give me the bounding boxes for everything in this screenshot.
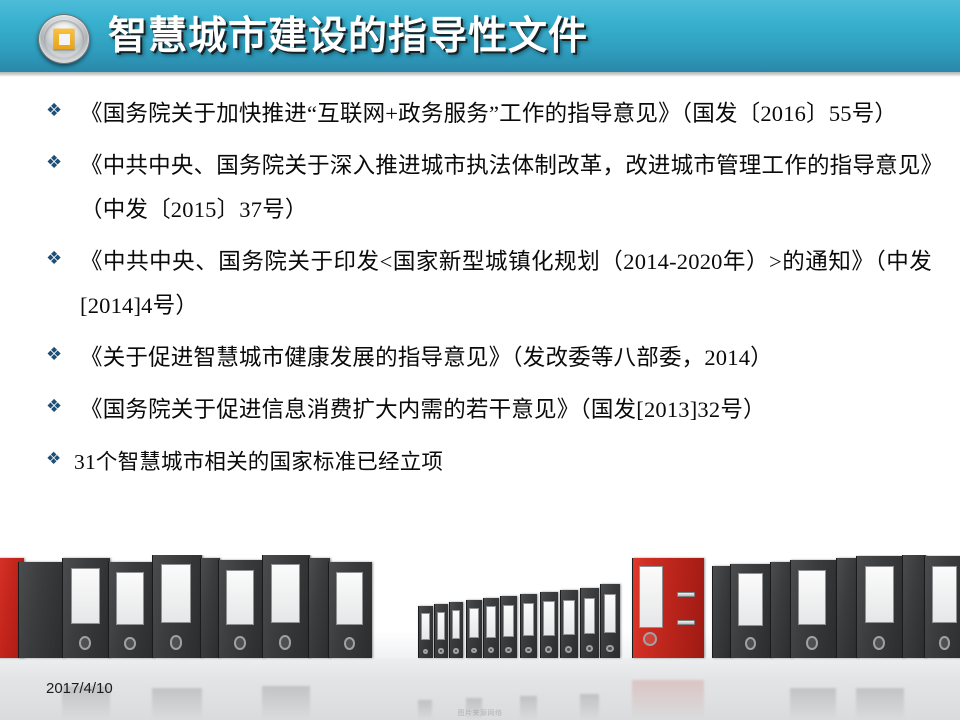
binder [770, 562, 792, 658]
binder [62, 558, 110, 658]
binder [434, 604, 448, 658]
list-item: ❖ 《国务院关于加快推进“互联网+政务服务”工作的指导意见》（国发〔2016〕5… [0, 92, 960, 136]
binder [152, 555, 202, 658]
binder [836, 558, 858, 658]
diamond-bullet-icon: ❖ [46, 388, 80, 425]
binder [580, 588, 599, 658]
diamond-bullet-icon: ❖ [46, 336, 80, 373]
binder [790, 560, 836, 658]
diamond-bullet-icon: ❖ [46, 240, 80, 277]
slide-title: 智慧城市建设的指导性文件 [108, 8, 588, 66]
square-badge-icon [38, 14, 90, 64]
binder [540, 592, 558, 658]
binder [483, 598, 499, 658]
list-item: ❖ 《中共中央、国务院关于深入推进城市执法体制改革，改进城市管理工作的指导意见》… [0, 144, 960, 232]
list-item-text: 《国务院关于加快推进“互联网+政务服务”工作的指导意见》（国发〔2016〕55号… [80, 92, 932, 136]
row-of-binders-photo: 2017/4/10 图片来源网络 [0, 555, 960, 720]
binder [924, 556, 960, 658]
binder [200, 558, 220, 658]
binder [466, 600, 482, 658]
list-item: ❖ 《中共中央、国务院关于印发<国家新型城镇化规划（2014-2020年）>的通… [0, 240, 960, 328]
binder [600, 584, 620, 658]
binder [560, 590, 578, 658]
slide-header: 智慧城市建设的指导性文件 [0, 0, 960, 73]
list-item-text: 《关于促进智慧城市健康发展的指导意见》（发改委等八部委，2014） [80, 336, 932, 380]
binder-red-highlighted [632, 558, 704, 658]
diamond-bullet-icon: ❖ [46, 92, 80, 129]
diamond-bullet-icon: ❖ [46, 440, 74, 477]
list-item: ❖ 31个智慧城市相关的国家标准已经立项 [0, 440, 960, 484]
footer-watermark: 图片来源网络 [0, 708, 960, 718]
list-item: ❖ 《国务院关于促进信息消费扩大内需的若干意见》（国发[2013]32号） [0, 388, 960, 432]
list-item-text: 《国务院关于促进信息消费扩大内需的若干意见》（国发[2013]32号） [80, 388, 932, 432]
binder [449, 602, 463, 658]
binder [712, 566, 732, 658]
list-item-text: 《中共中央、国务院关于深入推进城市执法体制改革，改进城市管理工作的指导意见》（中… [80, 144, 932, 232]
diamond-bullet-icon: ❖ [46, 144, 80, 181]
binder [902, 555, 926, 658]
binder [730, 564, 772, 658]
list-item: ❖ 《关于促进智慧城市健康发展的指导意见》（发改委等八部委，2014） [0, 336, 960, 380]
binder [328, 562, 372, 658]
icon-square-inner [59, 34, 70, 45]
binder [308, 558, 330, 658]
binder [218, 560, 264, 658]
list-item-text: 31个智慧城市相关的国家标准已经立项 [74, 440, 932, 484]
slide-date: 2017/4/10 [46, 680, 113, 697]
binder [108, 562, 154, 658]
list-item-text: 《中共中央、国务院关于印发<国家新型城镇化规划（2014-2020年）>的通知》… [80, 240, 932, 328]
binder [500, 596, 517, 658]
binder [262, 555, 310, 658]
binder [856, 556, 904, 658]
binder [18, 562, 64, 658]
binder [520, 594, 537, 658]
icon-square-outer [54, 29, 75, 50]
bullet-list: ❖ 《国务院关于加快推进“互联网+政务服务”工作的指导意见》（国发〔2016〕5… [0, 92, 960, 492]
binder [418, 606, 433, 658]
